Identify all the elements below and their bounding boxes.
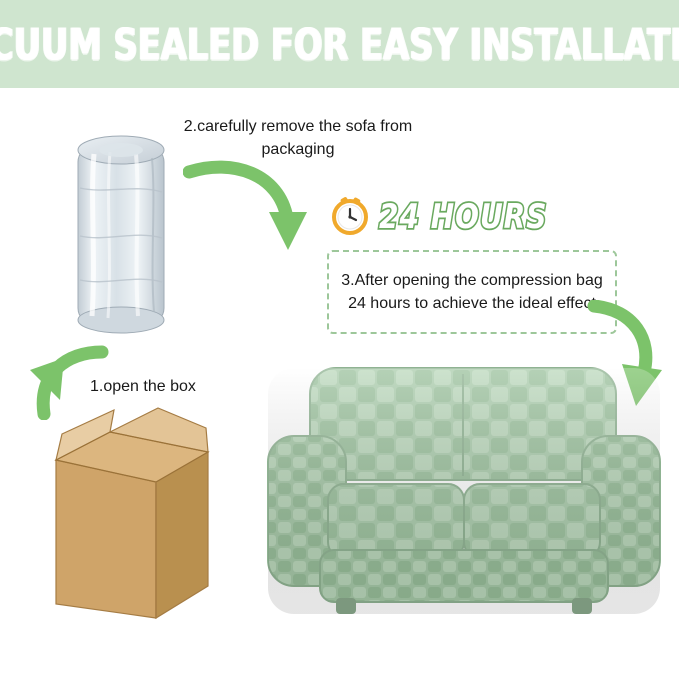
hours-headline: 24 HOURS xyxy=(379,196,547,236)
step3-callout-box: 3.After opening the compression bag 24 h… xyxy=(327,250,617,334)
curved-arrow-icon-2 xyxy=(183,160,313,260)
poster-root: VACUUM SEALED FOR EASY INSTALLATION 2.ca… xyxy=(0,0,679,679)
cardboard-box-image xyxy=(28,390,228,635)
clock-icon xyxy=(330,196,370,236)
page-title: VACUUM SEALED FOR EASY INSTALLATION xyxy=(0,18,679,69)
vacuum-sealed-roll-image xyxy=(66,128,176,343)
hours-headline-row: 24 HOURS xyxy=(330,196,547,236)
step3-caption: 3.After opening the compression bag 24 h… xyxy=(329,269,615,315)
green-checkered-sofa-image xyxy=(262,352,662,647)
header-banner: VACUUM SEALED FOR EASY INSTALLATION xyxy=(0,0,679,88)
step2-caption: 2.carefully remove the sofa from packagi… xyxy=(178,115,418,161)
